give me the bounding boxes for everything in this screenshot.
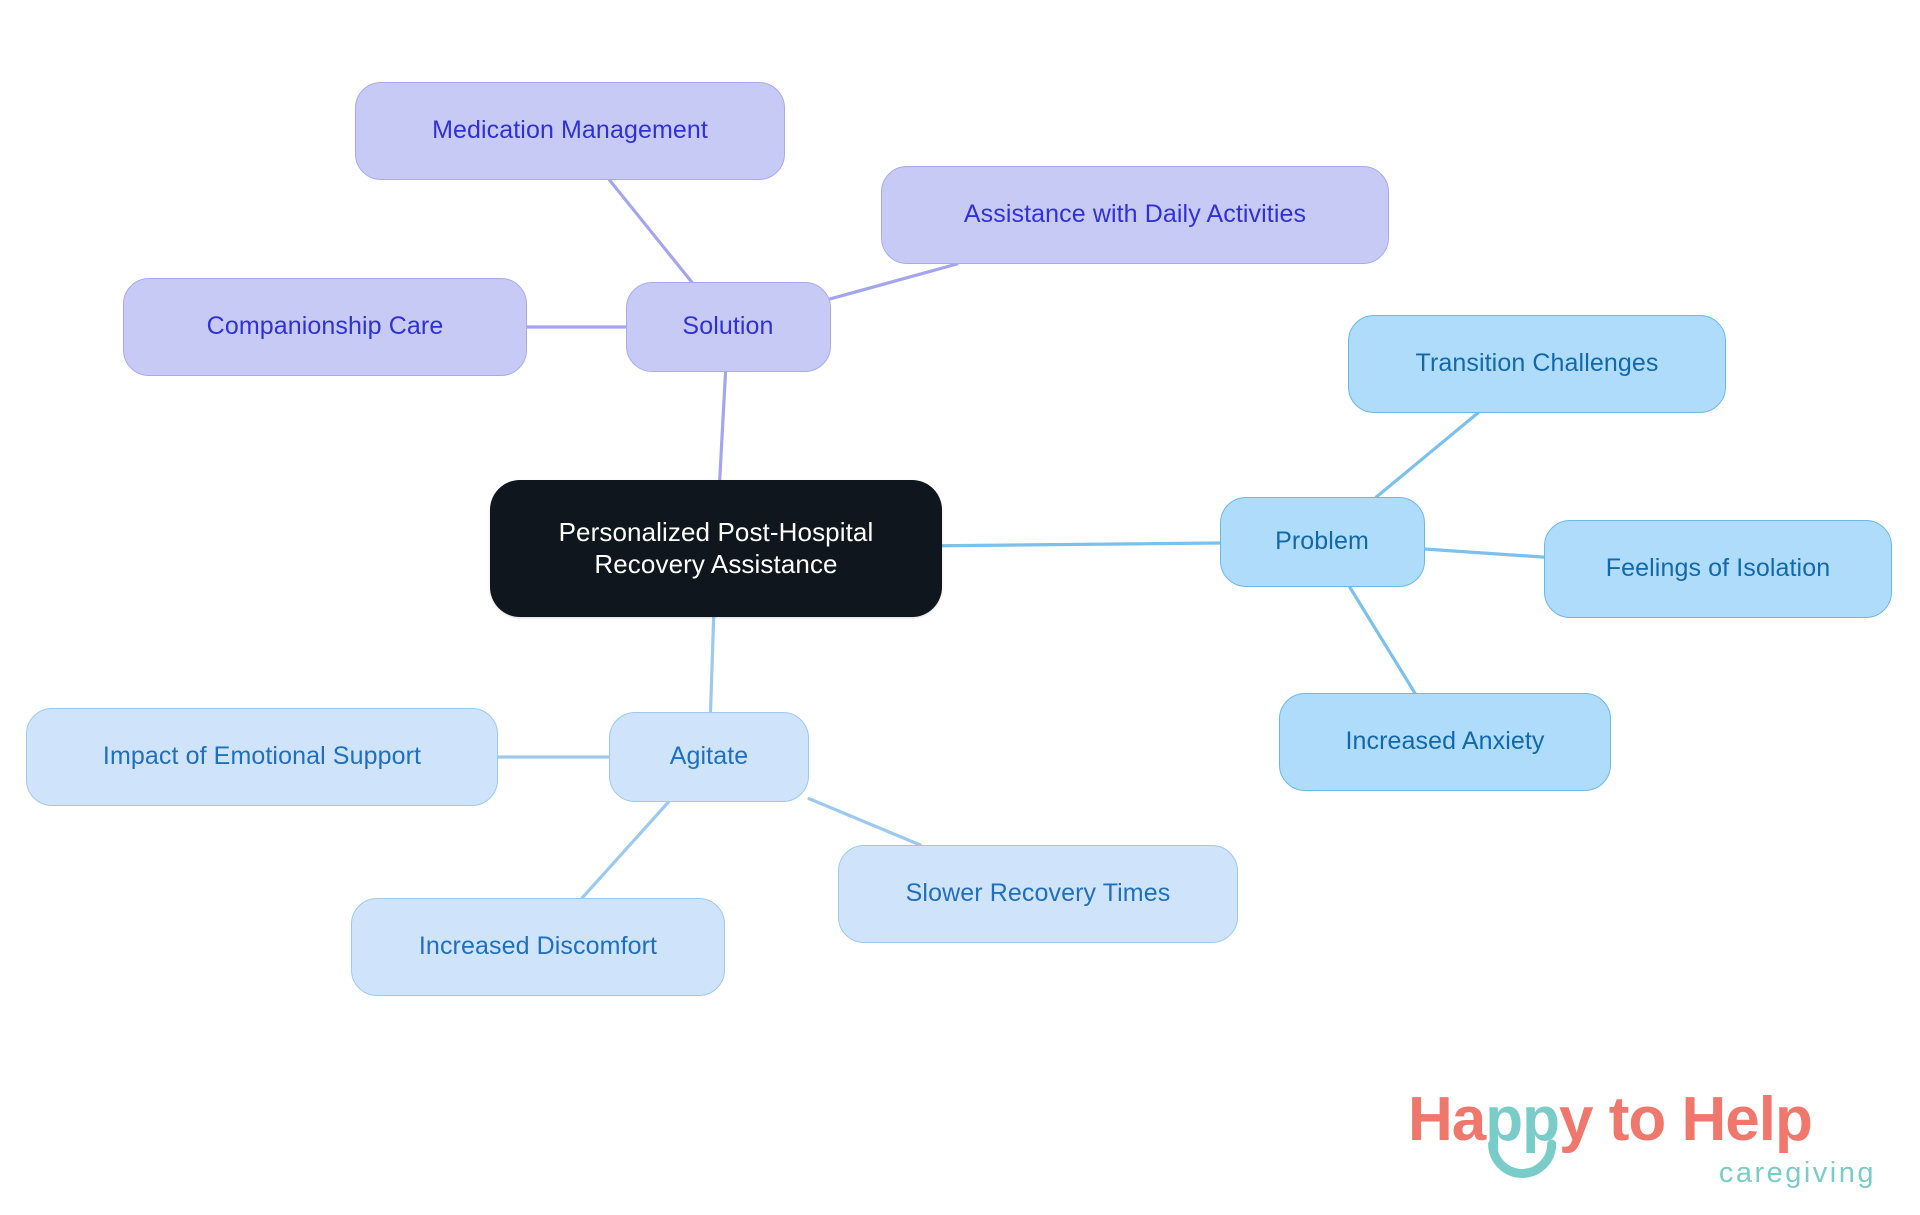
node-label: Medication Management — [432, 115, 708, 146]
node-label: Personalized Post-Hospital Recovery Assi… — [559, 516, 874, 581]
node-label: Problem — [1275, 526, 1369, 557]
mindmap-node-slower-recovery-times[interactable]: Slower Recovery Times — [838, 845, 1238, 943]
mindmap-node-solution[interactable]: Solution — [626, 282, 831, 372]
mindmap-node-problem[interactable]: Problem — [1220, 497, 1425, 587]
edge-root-to-solution — [720, 372, 726, 480]
node-label: Agitate — [670, 741, 749, 772]
edge-solution-to-assistance-daily-activities — [831, 264, 957, 299]
mindmap-node-companionship-care[interactable]: Companionship Care — [123, 278, 527, 376]
node-label: Slower Recovery Times — [906, 878, 1171, 909]
node-label: Solution — [682, 311, 773, 342]
mindmap-node-impact-of-emotional-support[interactable]: Impact of Emotional Support — [26, 708, 498, 806]
mindmap-node-assistance-daily-activities[interactable]: Assistance with Daily Activities — [881, 166, 1389, 264]
mindmap-canvas: Personalized Post-Hospital Recovery Assi… — [0, 0, 1920, 1215]
node-label: Increased Discomfort — [419, 931, 657, 962]
mindmap-node-agitate[interactable]: Agitate — [609, 712, 809, 802]
mindmap-node-feelings-of-isolation[interactable]: Feelings of Isolation — [1544, 520, 1892, 618]
node-label: Companionship Care — [207, 311, 444, 342]
mindmap-root-node[interactable]: Personalized Post-Hospital Recovery Assi… — [490, 480, 942, 617]
node-label: Increased Anxiety — [1345, 726, 1544, 757]
edge-root-to-problem — [942, 543, 1220, 546]
logo-happy-ha: Ha — [1408, 1085, 1487, 1154]
edge-solution-to-medication-management — [610, 180, 692, 282]
mindmap-node-increased-discomfort[interactable]: Increased Discomfort — [351, 898, 725, 996]
logo-happy-rest: y to Help — [1559, 1085, 1812, 1154]
mindmap-node-increased-anxiety[interactable]: Increased Anxiety — [1279, 693, 1611, 791]
node-label: Feelings of Isolation — [1606, 553, 1830, 584]
node-label: Impact of Emotional Support — [103, 741, 421, 772]
edge-root-to-agitate — [711, 617, 714, 713]
edge-problem-to-transition-challenges — [1376, 413, 1477, 497]
edge-agitate-to-increased-discomfort — [582, 802, 668, 898]
node-label: Transition Challenges — [1416, 348, 1659, 379]
node-label: Assistance with Daily Activities — [964, 199, 1306, 230]
edge-problem-to-increased-anxiety — [1350, 587, 1415, 693]
edge-problem-to-feelings-of-isolation — [1425, 549, 1545, 557]
brand-logo: Ha pp y to Help caregiving — [1408, 1078, 1878, 1193]
logo-subtitle: caregiving — [1719, 1157, 1876, 1189]
mindmap-node-transition-challenges[interactable]: Transition Challenges — [1348, 315, 1726, 413]
edge-agitate-to-slower-recovery-times — [809, 799, 920, 845]
mindmap-node-medication-management[interactable]: Medication Management — [355, 82, 785, 180]
